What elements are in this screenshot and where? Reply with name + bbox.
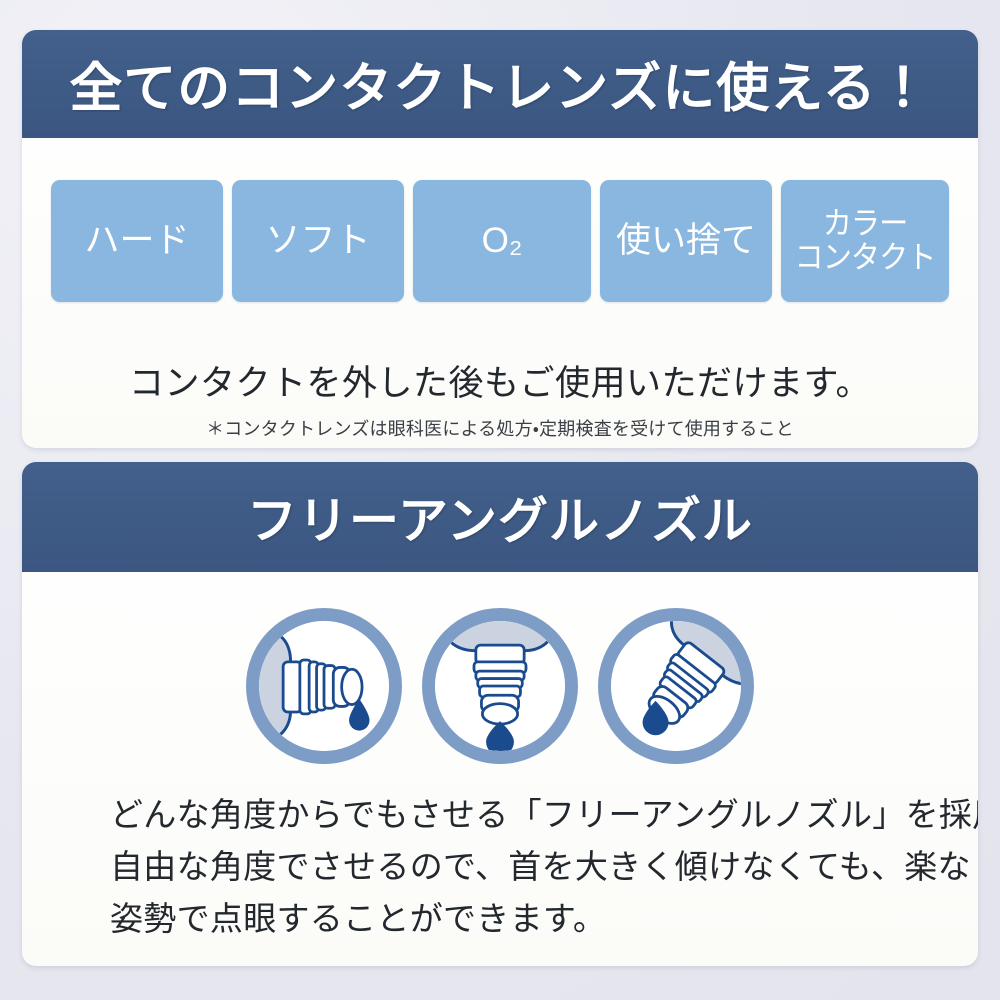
nozzle-horizontal-icon [246, 608, 402, 764]
tag-o2-label: O₂ [482, 222, 523, 261]
tag-soft-label: ソフト [265, 222, 370, 261]
tag-hard-label: ハード [84, 222, 189, 261]
tag-disposable: 使い捨て [600, 180, 772, 302]
tag-soft: ソフト [232, 180, 404, 302]
tag-o2: O₂ [413, 180, 591, 302]
contact-lens-compatibility-card: 全てのコンタクトレンズに使える！ ハード ソフト O₂ 使い捨て カラー コンタ… [22, 30, 978, 448]
nozzle-description-line-2: 自由な角度でさせるので、首を大きく傾けなくても、楽な [110, 842, 910, 894]
tag-color-contact: カラー コンタクト [781, 180, 949, 302]
tag-color-contact-label: カラー コンタクト [790, 207, 940, 275]
top-banner-title: 全てのコンタクトレンズに使える！ [69, 46, 930, 122]
nozzle-description-line-1: どんな角度からでもさせる「フリーアングルノズル」を採用。 [110, 790, 910, 842]
bottom-banner-title: フリーアングルノズル [247, 481, 753, 553]
nozzle-downward-icon [422, 608, 578, 764]
nozzle-description-line-3: 姿勢で点眼することができます。 [110, 894, 910, 946]
tag-color-contact-line1: カラー [795, 207, 936, 241]
page-background: 全てのコンタクトレンズに使える！ ハード ソフト O₂ 使い捨て カラー コンタ… [0, 0, 1000, 1000]
tag-hard: ハード [51, 180, 223, 302]
nozzle-illustration-row [22, 608, 978, 764]
tag-disposable-label: 使い捨て [616, 222, 756, 261]
top-banner: 全てのコンタクトレンズに使える！ [22, 30, 978, 138]
footnote-text: ＊コンタクトレンズは眼科医による処方・定期検査を受けて使用すること [22, 415, 978, 441]
tag-color-contact-line2: コンタクト [795, 241, 936, 275]
nozzle-tilted-icon [598, 608, 754, 764]
lead-text: コンタクトを外した後もご使用いただけます。 [22, 355, 978, 406]
free-angle-nozzle-card: フリーアングルノズル [22, 462, 978, 966]
bottom-banner: フリーアングルノズル [22, 462, 978, 572]
nozzle-description-text: どんな角度からでもさせる「フリーアングルノズル」を採用。 自由な角度でさせるので… [110, 790, 910, 946]
lens-type-tag-row: ハード ソフト O₂ 使い捨て カラー コンタクト [22, 180, 978, 302]
